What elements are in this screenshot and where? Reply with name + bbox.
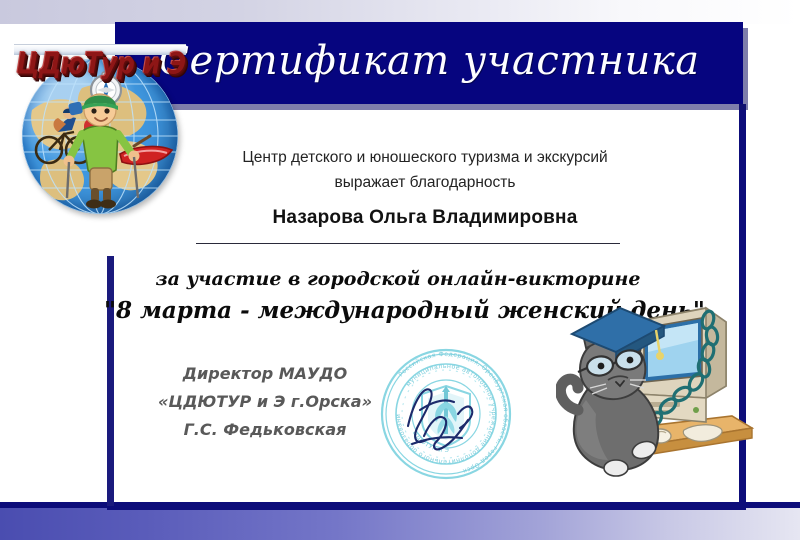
signatory-block: Директор МАУДО «ЦДЮТУР и Э г.Орска» Г.С.… xyxy=(140,360,390,444)
bottom-gradient-band xyxy=(0,508,800,540)
organization-logo: ЦДюТур и Э xyxy=(8,44,192,216)
page-title: Сертификат участника xyxy=(115,22,743,104)
cat-computer-illustration xyxy=(556,282,760,482)
recipient-name: Назарова Ольга Владимировна xyxy=(175,207,675,229)
header-banner: Сертификат участника xyxy=(115,22,743,104)
logo-wordmark: ЦДюТур и Э xyxy=(14,43,188,83)
recipient-underline xyxy=(196,243,620,244)
organization-line-2: выражает благодарность xyxy=(175,170,675,195)
handwritten-signature xyxy=(398,376,490,460)
frame-left-edge xyxy=(107,256,114,506)
signatory-organization: «ЦДЮТУР и Э г.Орска» xyxy=(140,388,390,416)
signatory-name: Г.С. Федьковская xyxy=(140,416,390,444)
organization-line-1: Центр детского и юношеского туризма и эк… xyxy=(175,145,675,170)
frame-bottom-edge xyxy=(107,503,746,510)
certificate-canvas: Сертификат участника xyxy=(0,0,800,540)
signatory-title: Директор МАУДО xyxy=(140,360,390,388)
top-gradient-band xyxy=(0,0,800,24)
organization-statement: Центр детского и юношеского туризма и эк… xyxy=(175,145,675,195)
